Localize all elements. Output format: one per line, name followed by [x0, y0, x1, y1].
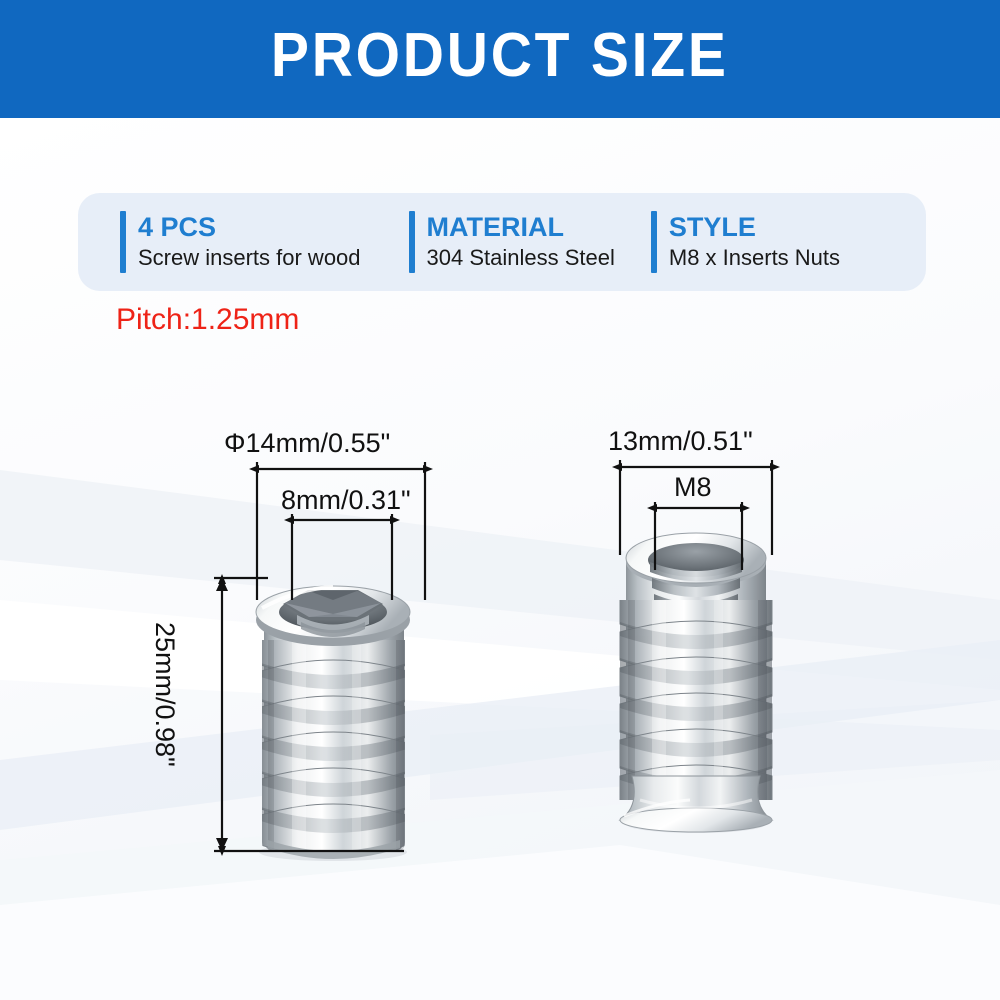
- spec-column-style: STYLE M8 x Inserts Nuts: [651, 211, 840, 273]
- spec-subtitle-material: 304 Stainless Steel: [427, 242, 615, 271]
- spec-subtitle-style: M8 x Inserts Nuts: [669, 242, 840, 271]
- external-threads-left: [258, 620, 410, 860]
- spec-subtitle-quantity: Screw inserts for wood: [138, 242, 361, 271]
- header-banner: PRODUCT SIZE: [0, 0, 1000, 118]
- product-stage: [0, 0, 1000, 1000]
- product-image-right: [620, 533, 772, 833]
- spec-heading-style: STYLE: [669, 212, 840, 242]
- spec-heading-material: MATERIAL: [427, 212, 615, 242]
- spec-heading-quantity: 4 PCS: [138, 212, 361, 242]
- product-image-left: [256, 586, 410, 861]
- spec-column-material: MATERIAL 304 Stainless Steel: [409, 211, 615, 273]
- page-title: PRODUCT SIZE: [271, 25, 729, 93]
- pitch-note: Pitch:1.25mm: [116, 305, 299, 335]
- spec-bar: 4 PCS Screw inserts for wood MATERIAL 30…: [78, 193, 926, 291]
- spec-column-quantity: 4 PCS Screw inserts for wood: [120, 211, 361, 273]
